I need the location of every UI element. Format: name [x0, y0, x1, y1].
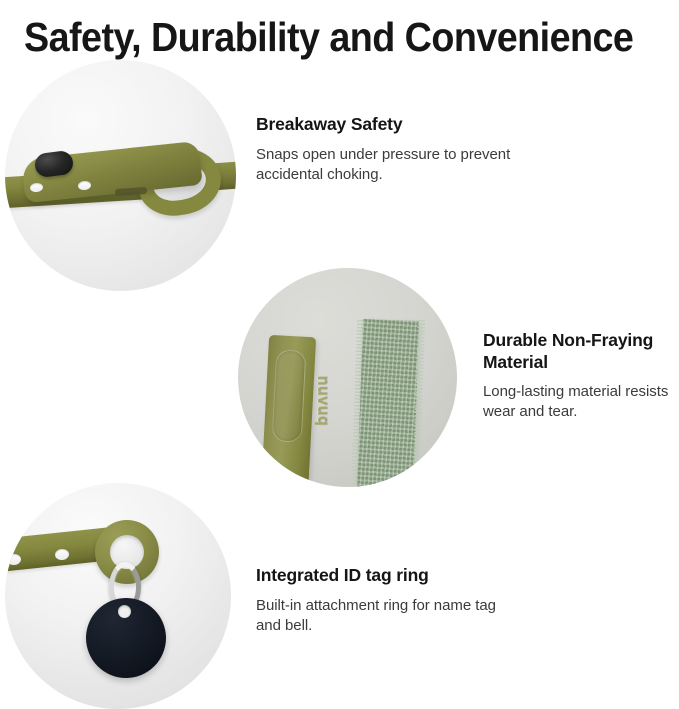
- brand-emboss-label: nuvuq: [313, 365, 331, 437]
- feature-block-breakaway-safety: Breakaway Safety Snaps open under pressu…: [256, 114, 526, 185]
- feature-heading: Integrated ID tag ring: [256, 565, 516, 587]
- feature-body: Snaps open under pressure to prevent acc…: [256, 145, 526, 185]
- id-tag-ring-scene: [5, 483, 231, 709]
- feature-block-id-tag-ring: Integrated ID tag ring Built-in attachme…: [256, 565, 516, 636]
- id-tag-hole: [118, 605, 131, 618]
- brand-emboss-panel: [272, 349, 307, 442]
- page-title: Safety, Durability and Convenience: [24, 15, 633, 61]
- material-comparison-scene: nuvuq: [238, 268, 457, 487]
- feature-body: Long-lasting material resists wear and t…: [483, 382, 679, 422]
- feature-image-breakaway-safety: [5, 60, 236, 291]
- feature-image-durable-material: nuvuq: [238, 268, 457, 487]
- feature-block-durable-material: Durable Non-Fraying Material Long-lastin…: [483, 330, 679, 422]
- feature-body: Built-in attachment ring for name tag an…: [256, 596, 516, 636]
- fabric-webbing-sample: [357, 319, 419, 487]
- feature-heading: Durable Non-Fraying Material: [483, 330, 679, 373]
- feature-heading: Breakaway Safety: [256, 114, 526, 136]
- breakaway-buckle-scene: [5, 60, 236, 291]
- feature-image-id-tag-ring: [5, 483, 231, 709]
